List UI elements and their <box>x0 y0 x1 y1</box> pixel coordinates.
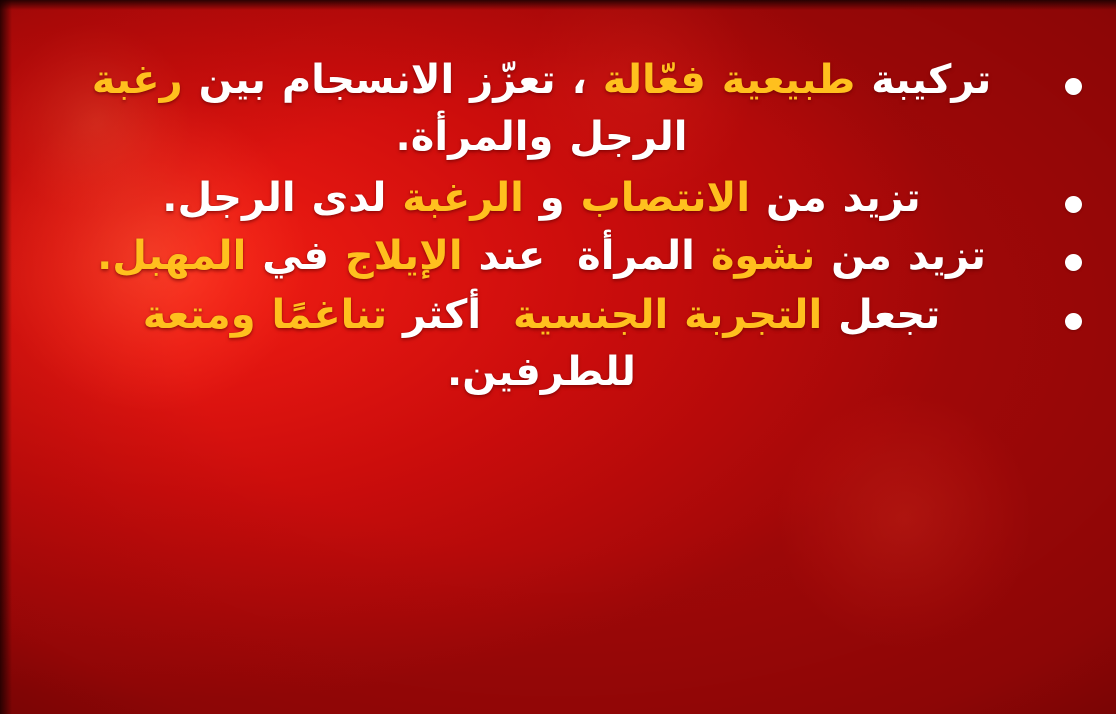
text-run-highlight: رغبة <box>92 57 183 103</box>
list-item: تركيبة طبيعية فعّالة ، تعزّز الانسجام بي… <box>44 52 1082 166</box>
text-run-plain: في <box>262 233 329 279</box>
text-run-plain: و <box>540 175 565 221</box>
bullet-text: تركيبة طبيعية فعّالة ، تعزّز الانسجام بي… <box>44 52 1039 166</box>
bullet-text: تزيد من نشوة المرأة عند الإيلاج في المهب… <box>44 228 1039 285</box>
text-run-plain: لدى الرجل. <box>162 175 386 221</box>
text-run-highlight: المهبل. <box>97 233 246 279</box>
list-item: تزيد من نشوة المرأة عند الإيلاج في المهب… <box>44 228 1082 285</box>
bullet-text: تجعل التجربة الجنسية أكثر تناغمًا ومتعة … <box>44 287 1039 401</box>
text-run-plain: تجعل <box>838 292 940 338</box>
text-run-highlight: تناغمًا ومتعة <box>143 292 387 338</box>
text-run-highlight: التجربة الجنسية <box>513 292 822 338</box>
text-run-plain: الرجل والمرأة. <box>396 114 688 160</box>
text-run-plain: ، تعزّز الانسجام بين <box>199 57 587 103</box>
text-run-highlight: الرغبة <box>402 175 524 221</box>
text-run-plain: تركيبة <box>871 57 991 103</box>
list-item: تجعل التجربة الجنسية أكثر تناغمًا ومتعة … <box>44 287 1082 401</box>
text-run-highlight: الانتصاب <box>581 175 750 221</box>
list-item: تزيد من الانتصاب و الرغبة لدى الرجل. <box>44 170 1082 227</box>
text-run-plain: المرأة عند <box>479 233 695 279</box>
text-run-highlight: الإيلاج <box>345 233 463 279</box>
bullet-marker-icon <box>1065 313 1082 330</box>
bullet-marker-icon <box>1065 196 1082 213</box>
text-run-plain: تزيد من <box>831 233 986 279</box>
slide-canvas: تركيبة طبيعية فعّالة ، تعزّز الانسجام بي… <box>0 0 1116 714</box>
text-run-highlight: طبيعية فعّالة <box>603 57 856 103</box>
text-run-plain: تزيد من <box>766 175 921 221</box>
bullet-text: تزيد من الانتصاب و الرغبة لدى الرجل. <box>44 170 1039 227</box>
text-run-plain: للطرفين. <box>447 349 636 395</box>
bullet-list: تركيبة طبيعية فعّالة ، تعزّز الانسجام بي… <box>0 0 1116 714</box>
bullet-marker-icon <box>1065 254 1082 271</box>
text-run-plain: أكثر <box>403 292 497 338</box>
bullet-marker-icon <box>1065 78 1082 95</box>
text-run-highlight: نشوة <box>711 233 815 279</box>
